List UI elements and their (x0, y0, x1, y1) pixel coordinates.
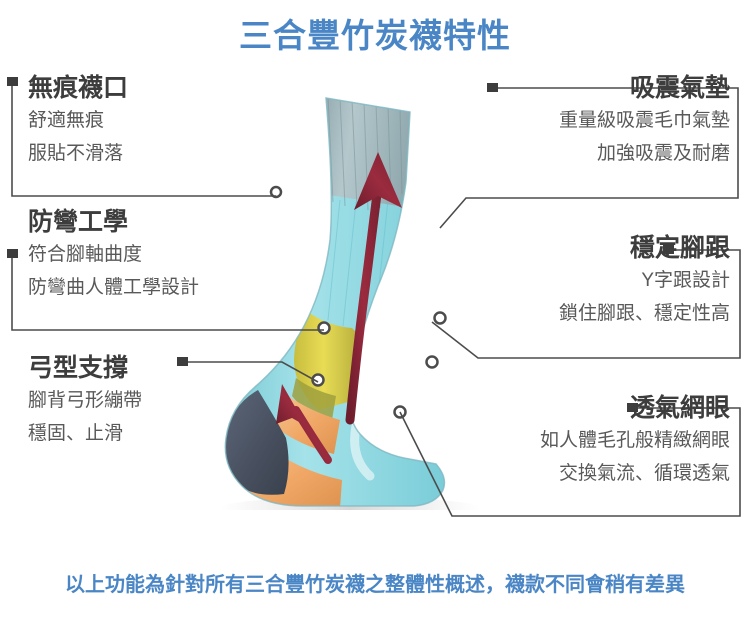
marker-cuff (7, 77, 18, 86)
feature-line-arch-1: 腳背弓形繃帶 (28, 384, 142, 417)
feature-line-cushion-1: 重量級吸震毛巾氣墊 (559, 104, 730, 137)
feature-line-mesh-1: 如人體毛孔般精緻網眼 (540, 424, 730, 457)
feature-block-arch: 弓型支撐 腳背弓形繃帶 穩固、止滑 (28, 352, 142, 450)
marker-bend (7, 249, 18, 258)
feature-title-arch: 弓型支撐 (28, 352, 142, 384)
page-title: 三合豐竹炭襪特性 (0, 16, 750, 56)
feature-block-heel: 穩定腳跟 Y字跟設計 鎖住腳跟、穩定性高 (559, 232, 730, 330)
feature-line-cuff-2: 服貼不滑落 (28, 137, 128, 170)
feature-line-bend-1: 符合腳軸曲度 (28, 238, 199, 271)
mesh-band (368, 304, 432, 348)
heel-panel (394, 342, 446, 410)
feature-block-mesh: 透氣網眼 如人體毛孔般精緻網眼 交換氣流、循環透氣 (540, 392, 730, 490)
feature-line-heel-2: 鎖住腳跟、穩定性高 (559, 297, 730, 330)
marker-arch (177, 357, 188, 366)
footer-note: 以上功能為針對所有三合豐竹炭襪之整體性概述，襪款不同會稍有差異 (0, 568, 750, 597)
feature-line-arch-2: 穩固、止滑 (28, 417, 142, 450)
sole-band-instep (372, 390, 430, 454)
feature-line-cushion-2: 加強吸震及耐磨 (559, 137, 730, 170)
feature-line-mesh-2: 交換氣流、循環透氣 (540, 457, 730, 490)
feature-line-bend-2: 防彎曲人體工學設計 (28, 271, 199, 304)
feature-line-cuff-1: 舒適無痕 (28, 104, 128, 137)
feature-block-cuff: 無痕襪口 舒適無痕 服貼不滑落 (28, 72, 128, 170)
feature-line-heel-1: Y字跟設計 (559, 264, 730, 297)
feature-title-cuff: 無痕襪口 (28, 72, 128, 104)
feature-block-cushion: 吸震氣墊 重量級吸震毛巾氣墊 加強吸震及耐磨 (559, 72, 730, 170)
feature-title-heel: 穩定腳跟 (559, 232, 730, 264)
sock-illustration (200, 90, 550, 510)
feature-title-cushion: 吸震氣墊 (559, 72, 730, 104)
infographic-page: 三合豐竹炭襪特性 (0, 0, 750, 636)
feature-block-bend: 防彎工學 符合腳軸曲度 防彎曲人體工學設計 (28, 206, 199, 304)
feature-title-mesh: 透氣網眼 (540, 392, 730, 424)
feature-title-bend: 防彎工學 (28, 206, 199, 238)
